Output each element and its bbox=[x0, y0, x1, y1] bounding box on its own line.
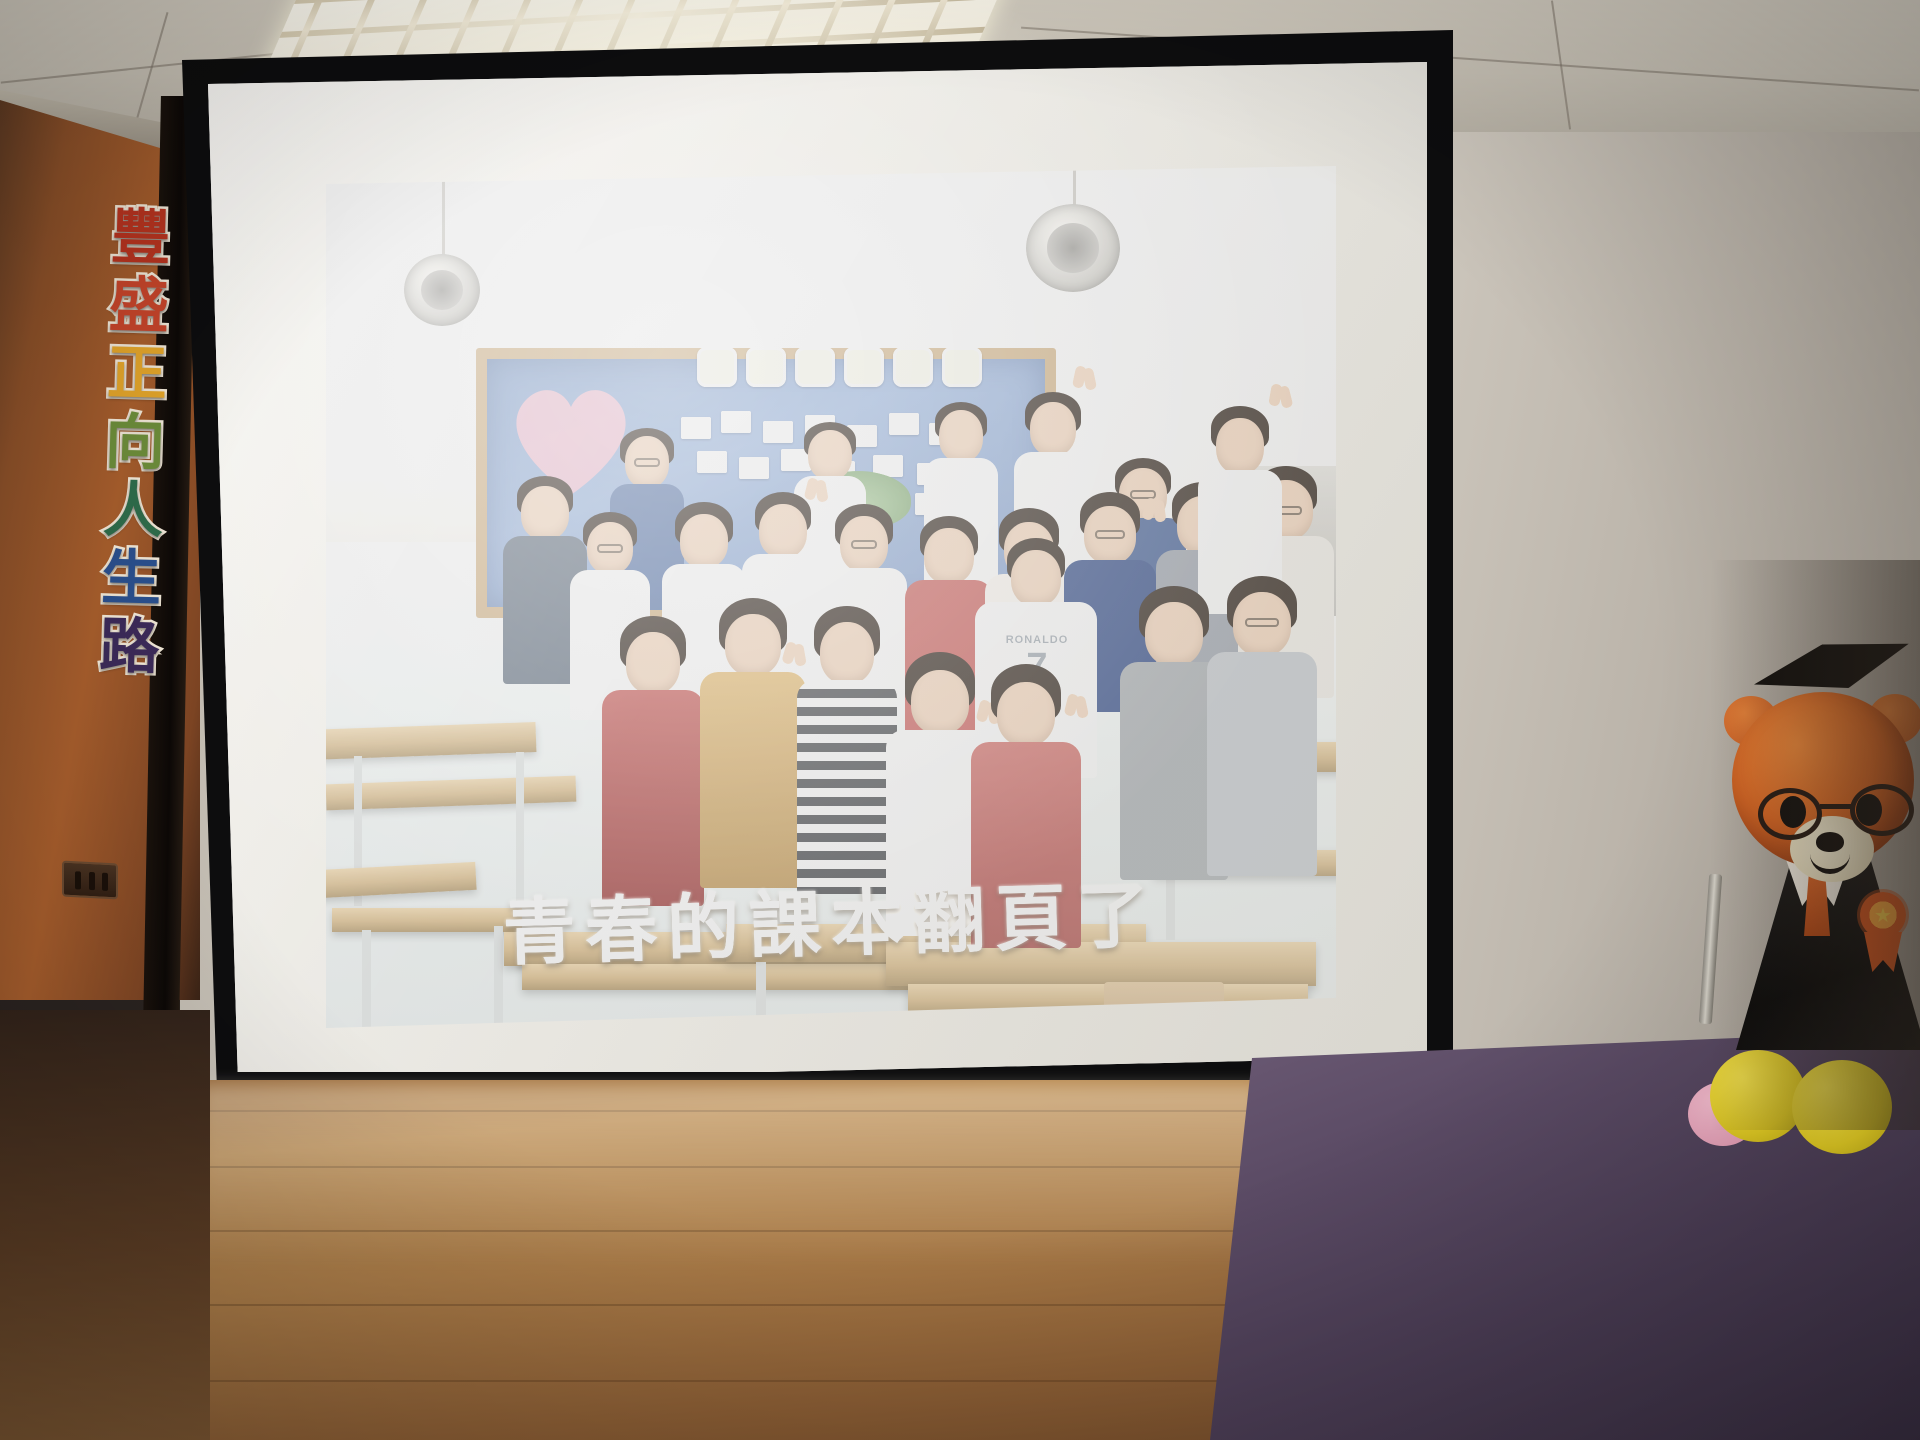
right-wall-shadow bbox=[1710, 560, 1920, 1130]
wall-power-outlet[interactable] bbox=[62, 861, 118, 900]
slogan-char-6: 路 bbox=[99, 616, 161, 679]
student bbox=[706, 598, 800, 898]
projected-photo: RONALDO 7 bbox=[326, 166, 1336, 1028]
slogan-char-5: 生 bbox=[100, 548, 162, 611]
slogan-char-2: 正 bbox=[106, 344, 168, 407]
projector-screen-surface[interactable]: RONALDO 7 bbox=[198, 62, 1430, 1072]
student bbox=[1214, 576, 1310, 882]
slogan-char-1: 盛 bbox=[108, 275, 170, 338]
floor-shadow-left bbox=[0, 1010, 210, 1440]
scene-root: 豐 盛 正 向 人 生 路 bbox=[0, 0, 1920, 1440]
floor-light-reflection bbox=[200, 1085, 1260, 1265]
slogan-char-3: 向 bbox=[104, 412, 166, 475]
student bbox=[802, 606, 892, 906]
wall-slogan-banner: 豐 盛 正 向 人 生 路 bbox=[85, 207, 184, 687]
slogan-char-0: 豐 bbox=[110, 207, 172, 270]
slogan-char-4: 人 bbox=[102, 480, 164, 543]
jersey-name-text: RONALDO bbox=[998, 634, 1076, 646]
